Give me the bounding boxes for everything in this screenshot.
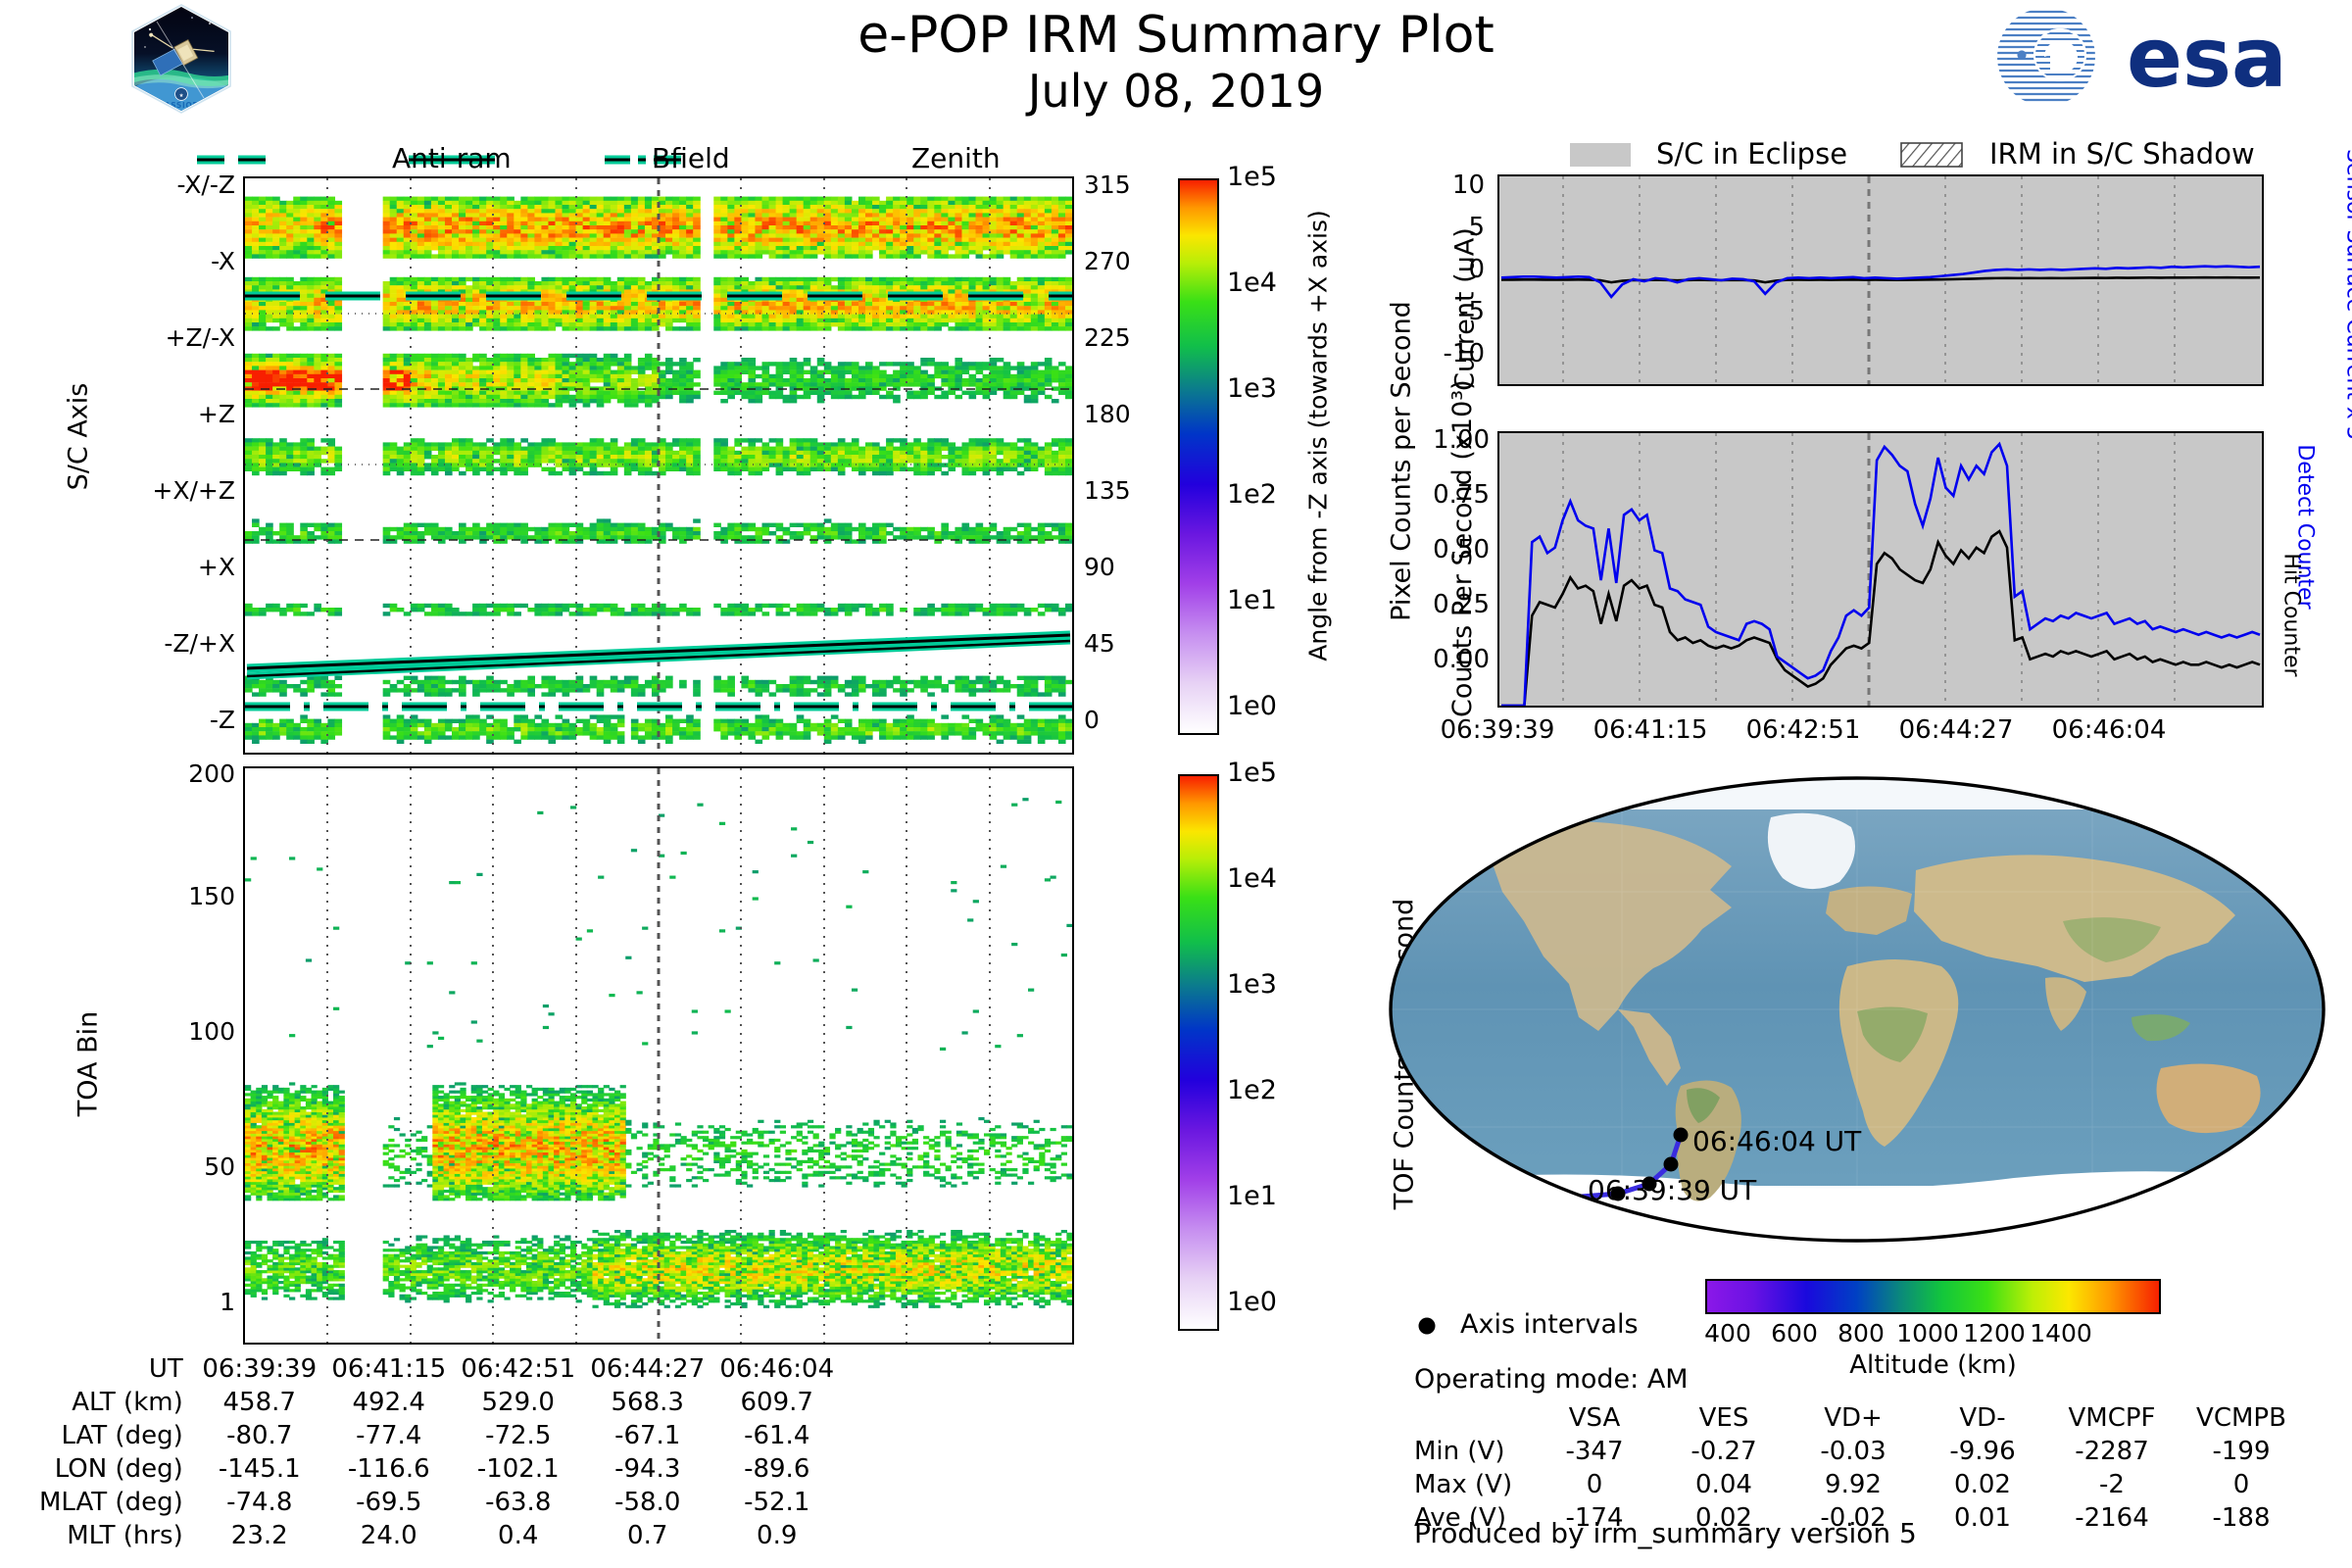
altitude-colorbar-label: Altitude (km) [1705,1350,2161,1380]
legend-label-anti-ram: Anti-ram [392,142,512,174]
row-label: UT [39,1354,195,1388]
ytick: 0.50 [1433,535,1490,564]
cell-mlt: 0.7 [583,1521,712,1554]
cbar-tick: 1e5 [1227,162,1277,192]
pixel-panel-ylabel: S/C Axis [64,339,94,535]
col-header: VSA [1530,1403,1659,1437]
cell-lon: -89.6 [712,1454,842,1488]
table-row: Max (V) 0 0.04 9.92 0.02 -2 0 [1414,1470,2306,1503]
ytick: 10 [1452,171,1485,200]
cell-mlt: 23.2 [195,1521,324,1554]
cell-value: 9.92 [1788,1470,1918,1503]
operating-mode-label: Operating mode: AM [1414,1364,1689,1395]
cell-value: -174 [1530,1503,1659,1537]
legend-label-zenith: Zenith [911,142,1001,174]
current-right-label-blue: Sensor Surface Current x 5 [2342,89,2352,501]
cell-value: -2287 [2047,1437,2177,1470]
row-label: LAT (deg) [39,1421,195,1454]
ytick-right: 90 [1084,553,1115,581]
cell-value: 0.02 [1918,1470,2047,1503]
table-row: Min (V) -347 -0.27 -0.03 -9.96 -2287 -19… [1414,1437,2306,1470]
cell-value: 0 [2177,1470,2306,1503]
altitude-colorbar-ticks: 400 600 800 1000 1200 1400 [1705,1319,2161,1350]
ephemeris-table: UT 06:39:39 06:41:15 06:42:51 06:44:27 0… [39,1354,842,1554]
cell-alt: 529.0 [454,1388,583,1421]
cbar-tick: 1e1 [1227,585,1277,615]
orbit-end-label: 06:46:04 UT [1692,1125,1861,1157]
table-row: MLAT (deg) -74.8 -69.5 -63.8 -58.0 -52.1 [39,1488,842,1521]
pixel-counts-spectrogram[interactable] [243,176,1074,755]
time-tick: 06:42:51 [1725,715,1882,745]
cbar-tick: 1e5 [1227,758,1277,788]
cell-mlt: 0.4 [454,1521,583,1554]
ytick: 0.75 [1433,480,1490,510]
cell-lat: -72.5 [454,1421,583,1454]
cbar-tick: 1e3 [1227,373,1277,404]
cell-ut: 06:41:15 [324,1354,454,1388]
col-header: VCMPB [2177,1403,2306,1437]
altitude-colorbar [1705,1279,2161,1314]
col-header: VD- [1918,1403,2047,1437]
orbit-point [1674,1128,1689,1143]
time-tick: 06:44:27 [1878,715,2034,745]
ytick-right: 0 [1084,706,1100,734]
cell-lat: -61.4 [712,1421,842,1454]
row-label: Max (V) [1414,1470,1530,1503]
cell-lon: -102.1 [454,1454,583,1488]
ytick: 1.00 [1433,425,1490,455]
legend-swatch-eclipse [1570,143,1631,167]
cell-ut: 06:42:51 [454,1354,583,1388]
toa-panel-ylabel: TOA Bin [73,966,104,1162]
cell-mlt: 24.0 [324,1521,454,1554]
current-panel-ytick-labels: 10 5 0 -5 -10 [1411,186,1485,372]
esa-logo: esa [1989,6,2342,108]
legend-swatch-shadow [1901,143,1962,167]
cell-lat: -80.7 [195,1421,324,1454]
legend-label-shadow: IRM in S/C Shadow [1989,137,2255,171]
row-label: MLAT (deg) [39,1488,195,1521]
toa-panel-ytick-labels: 200 150 100 50 1 [118,774,235,1347]
cell-alt: 458.7 [195,1388,324,1421]
svg-text:★: ★ [179,93,184,99]
cbar-tick: 1e4 [1227,863,1277,894]
cell-alt: 568.3 [583,1388,712,1421]
right-time-axis: 06:39:39 06:41:15 06:42:51 06:44:27 06:4… [1497,715,2264,749]
ytick-right: 135 [1084,476,1131,505]
cbar-tick: 1e4 [1227,268,1277,298]
axis-intervals-marker [1414,1313,1440,1339]
ytick: +Z/-X [166,323,235,352]
cbar-tick: 1e2 [1227,479,1277,510]
cell-mlt: 0.9 [712,1521,842,1554]
ytick: 5 [1468,213,1485,242]
row-label: ALT (km) [39,1388,195,1421]
table-row: UT 06:39:39 06:41:15 06:42:51 06:44:27 0… [39,1354,842,1388]
ytick: 0.25 [1433,590,1490,619]
sensor-surface-current-plot[interactable] [1497,174,2264,386]
cell-value: 0.01 [1918,1503,2047,1537]
cell-lat: -77.4 [324,1421,454,1454]
col-header: VD+ [1788,1403,1918,1437]
ytick: -X [211,247,235,275]
ytick: -Z/+X [164,629,235,658]
cell-ut: 06:46:04 [712,1354,842,1388]
cell-mlat: -63.8 [454,1488,583,1521]
toa-colorbar-ticks: 1e5 1e4 1e3 1e2 1e1 1e0 [1227,774,1335,1331]
cell-value: -9.96 [1918,1437,2047,1470]
ytick: -10 [1444,339,1485,368]
legend-label-bfield: Bfield [652,142,730,174]
cbar-tick: 1e0 [1227,1287,1277,1317]
cbar-tick: 1400 [2017,1319,2105,1347]
pixel-colorbar [1178,178,1219,735]
cell-ut: 06:44:27 [583,1354,712,1388]
cell-value: -199 [2177,1437,2306,1470]
svg-text:esa: esa [2127,10,2287,106]
time-tick: 06:46:04 [2031,715,2187,745]
cbar-tick: 1e1 [1227,1181,1277,1211]
cbar-tick: 1e2 [1227,1075,1277,1105]
table-row: LON (deg) -145.1 -116.6 -102.1 -94.3 -89… [39,1454,842,1488]
cell-value: -2164 [2047,1503,2177,1537]
cell-value: 0.04 [1659,1470,1788,1503]
cell-mlat: -69.5 [324,1488,454,1521]
ytick: -5 [1459,297,1485,326]
cell-lon: -94.3 [583,1454,712,1488]
table-row: Ave (V) -174 0.02 -0.02 0.01 -2164 -188 [1414,1503,2306,1537]
cell-lon: -116.6 [324,1454,454,1488]
row-label: MLT (hrs) [39,1521,195,1554]
cell-mlat: -52.1 [712,1488,842,1521]
table-row: MLT (hrs) 23.2 24.0 0.4 0.7 0.9 [39,1521,842,1554]
ytick: +X [198,553,235,581]
ytick-right: 225 [1084,323,1131,352]
ytick: -Z [210,706,235,734]
voltage-table: VSA VES VD+ VD- VMCPF VCMPB Min (V) -347… [1414,1403,2306,1537]
col-header: VES [1659,1403,1788,1437]
table-header-row: VSA VES VD+ VD- VMCPF VCMPB [1414,1403,2306,1437]
cell-value: -347 [1530,1437,1659,1470]
cell-value: -2 [2047,1470,2177,1503]
row-label: Min (V) [1414,1437,1530,1470]
ytick-right: 180 [1084,400,1131,428]
table-row: ALT (km) 458.7 492.4 529.0 568.3 609.7 [39,1388,842,1421]
mission-logo: ★ CASSIOPE [127,4,235,114]
pixel-panel-ytick-labels: -X/-Z -X +Z/-X +Z +X/+Z +X -Z/+X -Z [118,186,235,755]
cell-value: 0 [1530,1470,1659,1503]
ytick: 100 [188,1017,235,1046]
time-tick: 06:41:15 [1572,715,1729,745]
ytick-right: 45 [1084,629,1115,658]
pixel-colorbar-ticks: 1e5 1e4 1e3 1e2 1e1 1e0 [1227,178,1335,735]
cell-alt: 492.4 [324,1388,454,1421]
ytick: +X/+Z [152,476,235,505]
counts-panel-ytick-labels: 1.00 0.75 0.50 0.25 0.00 [1401,441,1490,686]
orbit-start-label: 06:39:39 UT [1588,1174,1756,1206]
ytick: 0 [1468,255,1485,284]
cell-value: 0.02 [1659,1503,1788,1537]
cbar-tick: 1e3 [1227,969,1277,1000]
page-date: July 08, 2019 [686,65,1666,118]
toa-bin-spectrogram[interactable] [243,766,1074,1345]
counts-right-label-black: Hit Counter [2279,508,2304,723]
row-label: Ave (V) [1414,1503,1530,1537]
ytick: +Z [198,400,235,428]
ytick-right: 270 [1084,247,1131,275]
cell-value: -0.03 [1788,1437,1918,1470]
cell-value: -0.27 [1659,1437,1788,1470]
cell-mlat: -58.0 [583,1488,712,1521]
cell-alt: 609.7 [712,1388,842,1421]
legend-label-eclipse: S/C in Eclipse [1656,137,1847,171]
cell-lat: -67.1 [583,1421,712,1454]
orbit-point [1664,1157,1679,1172]
axis-intervals-label: Axis intervals [1460,1309,1639,1340]
ytick: 0.00 [1433,645,1490,674]
pixel-panel-right-ticks: 315 270 225 180 135 90 45 0 [1084,186,1172,755]
page-title: e-POP IRM Summary Plot [686,6,1666,65]
cell-value: -188 [2177,1503,2306,1537]
counts-per-second-plot[interactable] [1497,431,2264,708]
cell-lon: -145.1 [195,1454,324,1488]
ytick: -X/-Z [177,171,235,199]
cell-ut: 06:39:39 [195,1354,324,1388]
table-row: LAT (deg) -80.7 -77.4 -72.5 -67.1 -61.4 [39,1421,842,1454]
cell-mlat: -74.8 [195,1488,324,1521]
ytick: 50 [204,1152,235,1181]
toa-colorbar [1178,774,1219,1331]
row-label: LON (deg) [39,1454,195,1488]
ytick: 150 [188,882,235,910]
ytick: 1 [220,1288,235,1316]
col-header: VMCPF [2047,1403,2177,1437]
orbit-world-map[interactable] [1387,774,2327,1245]
ytick: 200 [188,759,235,788]
ytick-right: 315 [1084,171,1131,199]
cbar-tick: 1e0 [1227,691,1277,721]
cell-value: -0.02 [1788,1503,1918,1537]
time-tick: 06:39:39 [1419,715,1576,745]
